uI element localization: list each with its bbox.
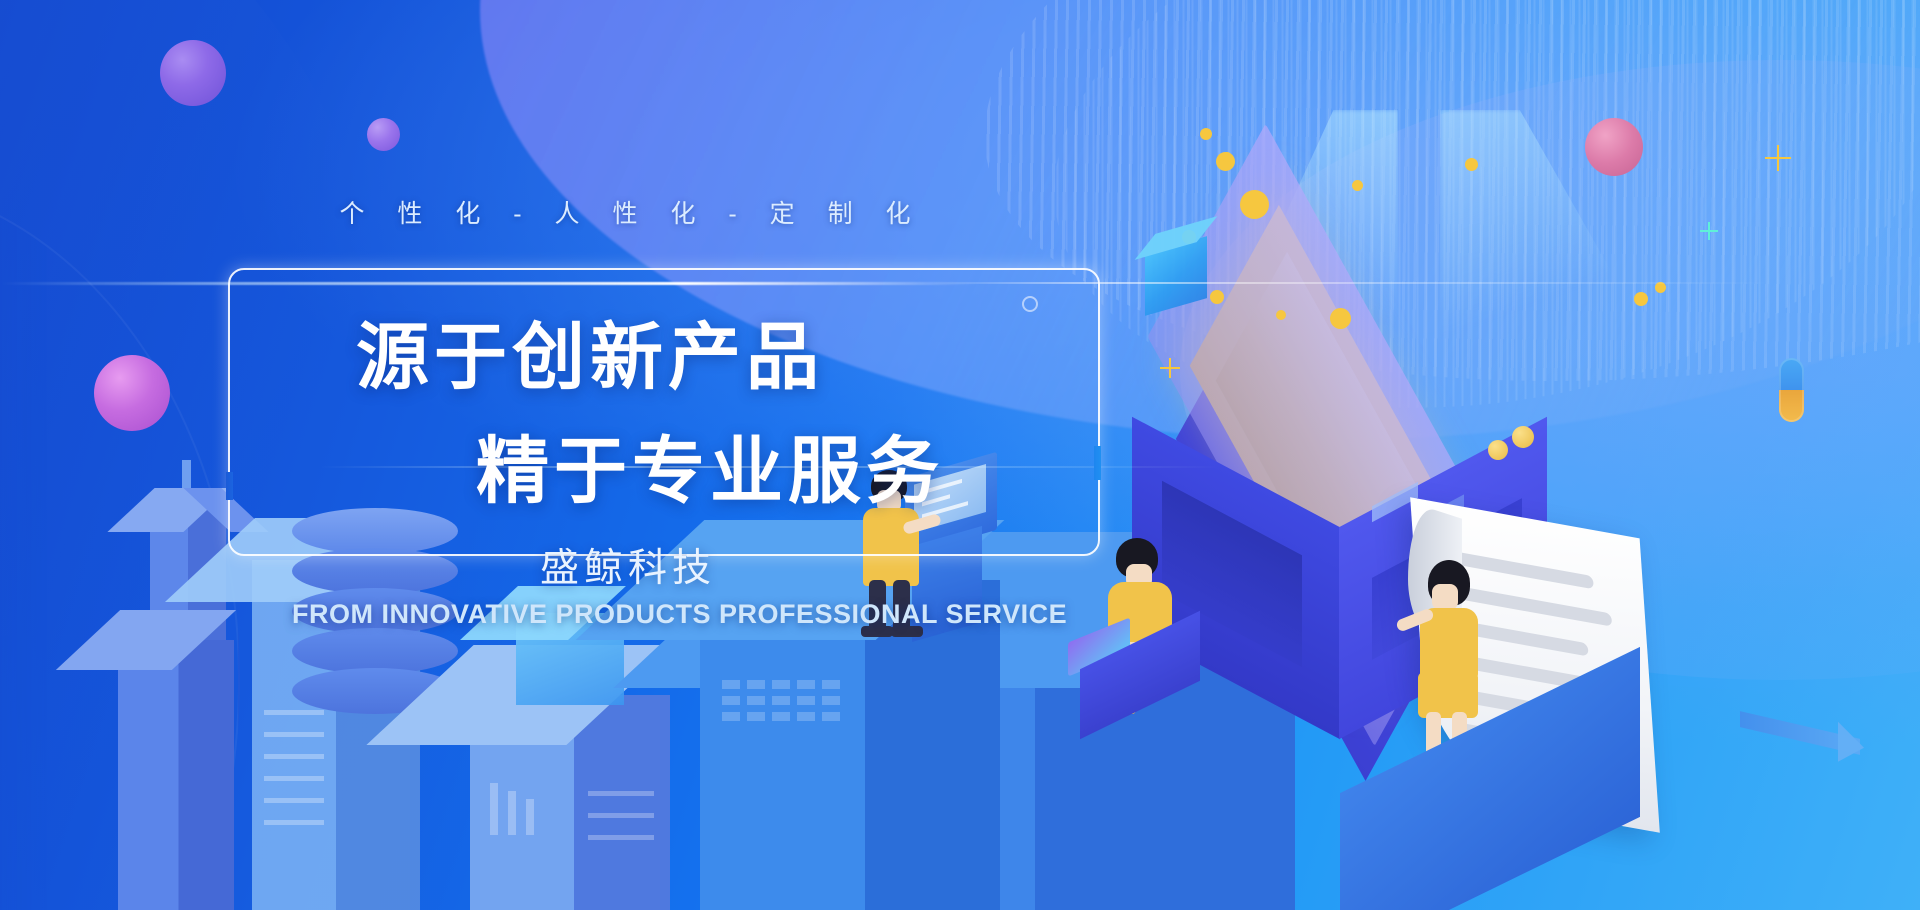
headline-line-2: 精于专业服务 — [476, 412, 944, 518]
block-window-line — [588, 791, 654, 796]
floating-dot — [1210, 290, 1224, 304]
building-window-grid — [722, 680, 840, 721]
tower-window-line — [264, 754, 324, 759]
floating-dot-icon — [1222, 152, 1232, 162]
window-tile — [747, 712, 765, 721]
tower-window-line — [264, 798, 324, 803]
window-tile — [722, 712, 740, 721]
window-tile — [722, 680, 740, 689]
window-tile — [747, 680, 765, 689]
person-face — [1432, 584, 1458, 610]
window-tile — [722, 696, 740, 705]
window-tile — [822, 696, 840, 705]
window-tile — [797, 712, 815, 721]
block-body — [470, 695, 670, 910]
city-block-with-cap — [470, 610, 670, 910]
floating-dot — [1276, 310, 1286, 320]
window-tile — [822, 712, 840, 721]
frame-gap-right — [1094, 446, 1101, 480]
block-window-line — [588, 813, 654, 818]
window-tile — [772, 712, 790, 721]
plus-marker-icon — [1765, 145, 1791, 171]
block-window-bar — [508, 791, 516, 835]
coin-dot — [1488, 440, 1508, 460]
magenta-sphere-icon — [94, 355, 170, 431]
purple-sphere-small-icon — [367, 118, 400, 151]
tagline-top: 个 性 化 - 人 性 化 - 定 制 化 — [0, 194, 1250, 230]
purple-sphere-icon — [160, 40, 226, 106]
hero-banner: 个 性 化 - 人 性 化 - 定 制 化 源于创新产品 精于专业服务 盛鲸科技… — [0, 0, 1920, 910]
plus-marker-icon — [1160, 358, 1180, 378]
frame-gap-left — [226, 472, 233, 500]
floating-dot-icon — [1465, 158, 1478, 171]
person-skirt — [1418, 672, 1478, 718]
tower-window-line — [264, 776, 324, 781]
capsule-icon — [1779, 358, 1804, 422]
block-window-bar — [490, 783, 498, 835]
tower-base-section — [118, 640, 234, 910]
floating-dot-icon — [1634, 292, 1648, 306]
window-tile — [772, 680, 790, 689]
block-window-line — [588, 835, 654, 840]
window-tile — [822, 680, 840, 689]
tower-window-line — [264, 820, 324, 825]
floating-dot — [1330, 308, 1351, 329]
coin-dot — [1512, 426, 1534, 448]
window-tile — [797, 680, 815, 689]
floating-dot-icon — [1200, 128, 1212, 140]
floating-dot — [1352, 180, 1363, 191]
block-window-bar — [526, 799, 534, 835]
isometric-printer-scene — [1140, 120, 1920, 910]
tagline-english: FROM INNOVATIVE PRODUCTS PROFESSIONAL SE… — [292, 599, 1067, 630]
pink-sphere-icon — [1585, 118, 1643, 176]
window-tile — [747, 696, 765, 705]
window-tile — [772, 696, 790, 705]
headline-line-1: 源于创新产品 — [356, 298, 824, 404]
window-tile — [797, 696, 815, 705]
brand-name: 盛鲸科技 — [540, 537, 716, 593]
plus-marker-cyan-icon — [1700, 222, 1718, 240]
